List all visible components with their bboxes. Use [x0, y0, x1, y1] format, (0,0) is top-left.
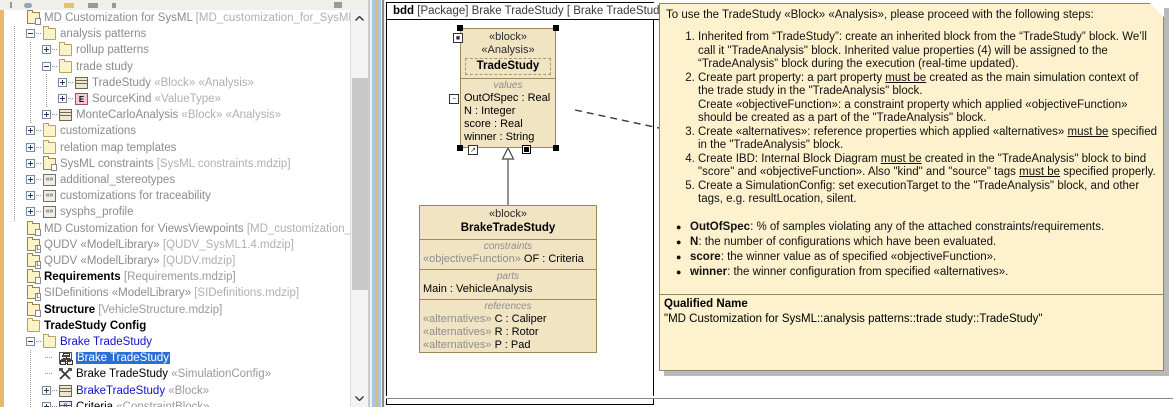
tree-item-brake-tradestudy[interactable]: Brake TradeStudy: [6, 334, 350, 350]
scroll-down-button[interactable]: [351, 390, 368, 407]
tree-item-label: TradeStudy «Block» «Analysis»: [92, 75, 254, 91]
application-window: MD Customization for SysML [MD_customiza…: [0, 0, 1175, 407]
note-steps-list: Inherited from “TradeStudy”: create an i…: [676, 31, 1157, 207]
feature-score: score : Real: [461, 118, 555, 131]
tree-item-montecarloanalysis[interactable]: MonteCarloAnalysis «Block» «Analysis»: [6, 107, 350, 123]
tools-icon: [59, 368, 72, 380]
tree-guide-line: [30, 350, 31, 407]
tree-item-name: relation map templates: [60, 142, 176, 154]
compartment-constraints: constraints «objectiveFunction» OF : Cri…: [420, 240, 596, 270]
tree-item-name: SourceKind: [92, 93, 151, 105]
folder-icon: [59, 61, 72, 73]
folder-icon: [43, 336, 56, 348]
tree-item-label: TradeStudy Config: [44, 318, 146, 334]
tree-item-sysml-constraints[interactable]: SysML constraints [SysML constraints.mdz…: [6, 156, 350, 172]
tree-guide-line: [46, 74, 47, 108]
diagram-kind: bdd: [393, 5, 414, 17]
tree-expander-collapsed[interactable]: [26, 126, 35, 135]
compartment-references: references «alternatives» C : Caliper «a…: [420, 300, 596, 355]
block-collapse-icon[interactable]: −: [449, 94, 459, 104]
tree-item-label: Brake TradeStudy: [76, 350, 170, 366]
diagram-frame-header: bdd [Package] Brake TradeStudy [ Brake T…: [387, 3, 679, 20]
feature-p: «alternatives» P : Pad: [420, 339, 596, 352]
folder-icon: [27, 320, 40, 332]
folder-icon: [43, 28, 56, 40]
block-tradestudy-values-compartment: values OutOfSpec : Real N : Integer scor…: [461, 79, 555, 144]
feature-of-text: OF : Criteria: [524, 253, 584, 265]
tree-item-label: MonteCarloAnalysis «Block» «Analysis»: [76, 107, 281, 123]
folder-icon: [43, 125, 56, 137]
diagram-icon: [59, 352, 72, 364]
tree-item-label: additional_stereotypes: [60, 172, 175, 188]
note-step-2: Create part property: a part property mu…: [698, 72, 1157, 126]
library-icon: [27, 239, 40, 251]
feature-p-text: P : Pad: [495, 339, 531, 351]
tree-item-name: rollup patterns: [76, 44, 149, 56]
tree-item-suffix: «Block»: [165, 385, 209, 397]
qualified-name-label: Qualified Name: [664, 297, 1159, 312]
tree-expander-collapsed[interactable]: [26, 175, 35, 184]
tree-item-qudv-modellibrary[interactable]: QUDV «ModelLibrary» [QUDV_SysML1.4.mdzip…: [6, 237, 350, 253]
chevron-down-icon: [355, 396, 364, 401]
profile-icon: [43, 190, 56, 202]
project-icon: [27, 304, 40, 316]
bullet-desc-winner: : the winner configuration from specifie…: [727, 266, 1008, 278]
tree-item-suffix: [SysML constraints.mdzip]: [154, 158, 291, 170]
tree-item-md-customization-for-viewsviewpoints[interactable]: MD Customization for ViewsViewpoints [MD…: [6, 221, 350, 237]
tree-guide-line: [14, 26, 15, 221]
block-braketradestudy-name: BrakeTradeStudy: [420, 221, 596, 236]
tree-item-requirements[interactable]: Requirements [Requirements.mdzip]: [6, 269, 350, 285]
selection-handle-br[interactable]: [553, 145, 559, 151]
tree-item-suffix: [VehicleStructure.mdzip]: [95, 304, 222, 316]
tree-item-name: QUDV «ModelLibrary»: [44, 239, 160, 251]
block-keyword-block: «block»: [461, 31, 555, 44]
tree-item-analysis-patterns[interactable]: analysis patterns: [6, 26, 350, 42]
project-icon: [43, 158, 56, 170]
tree-item-name: Brake TradeStudy: [76, 352, 170, 364]
feature-main: Main : VehicleAnalysis: [420, 283, 596, 296]
tree-item-label: relation map templates: [60, 140, 176, 156]
block-braketradestudy[interactable]: «block» BrakeTradeStudy constraints «obj…: [419, 205, 597, 353]
tree-connector: [68, 82, 74, 83]
tree-item-md-customization-for-sysml[interactable]: MD Customization for SysML [MD_customiza…: [6, 10, 350, 26]
tree-item-suffix: [SIDefinitions.mdzip]: [191, 287, 299, 299]
compartment-title-references: references: [420, 301, 596, 313]
selection-handle-bl[interactable]: [457, 145, 463, 151]
note-bullet-outofspec: OutOfSpec: % of samples violating any of…: [676, 220, 1157, 235]
tree-item-name: QUDV «ModelLibrary»: [44, 255, 160, 267]
feature-c-text: C : Caliper: [495, 313, 547, 325]
tree-expander-expanded[interactable]: [42, 62, 51, 71]
tree-item-name: trade study: [76, 61, 133, 73]
tree-item-label: Criteria «ConstraintBlock»: [76, 399, 210, 407]
feature-c: «alternatives» C : Caliper: [420, 313, 596, 326]
tree-item-label: trade study: [76, 59, 133, 75]
tree-connector: [52, 66, 58, 67]
note-step-5: Create a SimulationConfig: set execution…: [698, 180, 1157, 207]
folder-icon: [43, 142, 56, 154]
diagram-bottom-border: [386, 398, 1175, 399]
compartment-title-parts: parts: [420, 271, 596, 283]
tree-item-label: SysML constraints [SysML constraints.mdz…: [60, 156, 291, 172]
tree-item-name: TradeStudy: [92, 77, 151, 89]
tree-connector: [68, 98, 74, 99]
toolbar-icon-2[interactable]: [24, 3, 32, 8]
tree-item-suffix: [QUDV.mdzip]: [160, 255, 236, 267]
profile-icon: [43, 206, 56, 218]
block-icon: [59, 385, 72, 397]
note-divider: [660, 294, 1163, 295]
tree-connector: [36, 195, 42, 196]
tree-item-suffix: «ValueType»: [151, 93, 220, 105]
compartment-title-values: values: [461, 80, 555, 92]
tree-item-name: Requirements: [44, 271, 121, 283]
scroll-up-button[interactable]: [351, 10, 368, 27]
tree-item-braketradestudy[interactable]: BrakeTradeStudy «Block»: [6, 383, 350, 399]
tree-connector: [36, 147, 42, 148]
tree-item-name: Criteria: [76, 401, 113, 407]
tree-expander-collapsed[interactable]: [42, 402, 51, 407]
block-icon: [59, 109, 72, 121]
folder-icon: [59, 44, 72, 56]
tree-connector: [36, 211, 42, 212]
project-icon: [27, 223, 40, 235]
tree-expander-collapsed[interactable]: [58, 78, 67, 87]
diagram-title: [Package] Brake TradeStudy [ Brake Trade…: [417, 5, 671, 17]
block-tradestudy-name: TradeStudy: [465, 58, 551, 75]
tree-item-label: SourceKind «ValueType»: [92, 91, 221, 107]
tree-item-label: Structure [VehicleStructure.mdzip]: [44, 302, 222, 318]
tree-item-customizations[interactable]: customizations: [6, 123, 350, 139]
tree-expander-expanded[interactable]: [26, 29, 35, 38]
tree-item-sidefinitions-modellibrary[interactable]: SIDefinitions «ModelLibrary» [SIDefiniti…: [6, 285, 350, 301]
tree-expander-collapsed[interactable]: [26, 159, 35, 168]
constraint-block-icon: [59, 401, 72, 407]
note-intro: To use the TradeStudy «Block» «Analysis»…: [666, 9, 1157, 23]
tree-item-suffix: [MD_customization_for_SysML.mdzip]: [192, 12, 350, 24]
feature-r: «alternatives» R : Rotor: [420, 326, 596, 339]
tree-item-customizations-for-traceability[interactable]: customizations for traceability: [6, 188, 350, 204]
tree-item-suffix: [Requirements.mdzip]: [121, 271, 236, 283]
tree-item-name: SIDefinitions «ModelLibrary»: [44, 287, 191, 299]
block-icon: [75, 77, 88, 89]
tree-item-label: SIDefinitions «ModelLibrary» [SIDefiniti…: [44, 285, 299, 301]
note-bullet-score: score: the winner value as of specified …: [676, 250, 1157, 265]
tree-connector: [36, 163, 42, 164]
emphasis-must-be-2: must be: [1068, 126, 1109, 138]
tree-connector: [36, 341, 42, 342]
tree-guide-line: [30, 42, 31, 124]
tree-connector: [52, 114, 58, 115]
tree-connector: [52, 49, 58, 50]
tree-item-name: sysphs_profile: [60, 206, 134, 218]
project-icon: [27, 12, 40, 24]
scroll-thumb[interactable]: [352, 78, 368, 290]
stereotype-alternatives-p: «alternatives»: [423, 339, 492, 351]
library-icon: [27, 287, 40, 299]
tree-vertical-scrollbar[interactable]: [350, 10, 368, 407]
feature-r-text: R : Rotor: [495, 326, 539, 338]
tree-item-name: MD Customization for ViewsViewpoints: [44, 223, 244, 235]
toolbar-icon-4[interactable]: [88, 3, 98, 8]
tree-item-name: TradeStudy Config: [44, 320, 146, 332]
stereotype-objectivefunction: «objectiveFunction»: [423, 253, 521, 265]
qualified-name-value: "MD Customization for SysML::analysis pa…: [664, 312, 1159, 327]
profile-icon: [43, 174, 56, 186]
chevron-up-icon: [355, 16, 364, 21]
feature-n: N : Integer: [461, 105, 555, 118]
tree-expander-collapsed[interactable]: [42, 386, 51, 395]
tree-item-label: Brake TradeStudy: [60, 334, 152, 350]
tree-item-label: Brake TradeStudy «SimulationConfig»: [76, 366, 271, 382]
tree-item-tradestudy-config[interactable]: TradeStudy Config: [6, 318, 350, 334]
block-tradestudy-header: «block» «Analysis» TradeStudy: [461, 29, 555, 79]
feature-outofspec: OutOfSpec : Real: [461, 92, 555, 105]
tree-item-name: MonteCarloAnalysis: [76, 109, 178, 121]
tree-item-brake-tradestudy[interactable]: Brake TradeStudy: [6, 350, 350, 366]
tree-connector: [36, 130, 42, 131]
tree-item-name: additional_stereotypes: [60, 174, 175, 186]
tree-item-brake-tradestudy[interactable]: Brake TradeStudy «SimulationConfig»: [6, 366, 350, 382]
tree-item-label: QUDV «ModelLibrary» [QUDV_SysML1.4.mdzip…: [44, 237, 294, 253]
tree-item-additional-stereotypes[interactable]: additional_stereotypes: [6, 172, 350, 188]
tree-connector: [36, 179, 42, 180]
note-step-1: Inherited from “TradeStudy”: create an i…: [698, 31, 1157, 72]
note-bullet-winner: winner: the winner configuration from sp…: [676, 265, 1157, 280]
tree-item-name: SysML constraints: [60, 158, 154, 170]
bullet-term-winner: winner: [690, 266, 727, 278]
selection-handle-bottom-mid-inner: [524, 147, 529, 152]
toolbar-icon-5[interactable]: [112, 3, 116, 8]
tree-item-label: customizations for traceability: [60, 188, 211, 204]
project-icon: [27, 271, 40, 283]
tree-expander-collapsed[interactable]: [42, 45, 51, 54]
tree-expander-collapsed[interactable]: [42, 110, 51, 119]
tree-item-name: BrakeTradeStudy: [76, 385, 165, 397]
tree-expander-collapsed[interactable]: [26, 191, 35, 200]
note-step-3: Create «alternatives»: reference propert…: [698, 126, 1157, 153]
bullet-desc-outofspec: : % of samples violating any of the atta…: [750, 221, 1104, 233]
tree-item-tradestudy[interactable]: TradeStudy «Block» «Analysis»: [6, 75, 350, 91]
tree-connector: [45, 373, 52, 374]
stereotype-alternatives-c: «alternatives»: [423, 313, 492, 325]
tree-expander-collapsed[interactable]: [58, 94, 67, 103]
bullet-desc-score: : the winner value as of specified «obje…: [721, 251, 997, 263]
tree-item-sourcekind[interactable]: SourceKind «ValueType»: [6, 91, 350, 107]
tree-expander-expanded[interactable]: [26, 337, 35, 346]
note-bullet-n: N: the number of configurations which ha…: [676, 235, 1157, 250]
tree-item-name: Brake TradeStudy: [76, 368, 168, 380]
browser-toolbar[interactable]: [0, 0, 370, 10]
tree-item-name: Structure: [44, 304, 95, 316]
tree-expander-collapsed[interactable]: [26, 207, 35, 216]
feature-of: «objectiveFunction» OF : Criteria: [420, 253, 596, 266]
tree-item-label: analysis patterns: [60, 26, 146, 42]
tree-item-suffix: «ConstraintBlock»: [113, 401, 210, 407]
block-keyword-block-2: «block»: [420, 208, 596, 221]
tree-item-rollup-patterns[interactable]: rollup patterns: [6, 42, 350, 58]
compartment-parts: parts Main : VehicleAnalysis: [420, 270, 596, 300]
model-browser-panel: MD Customization for SysML [MD_customiza…: [0, 0, 370, 407]
note-step-4: Create IBD: Internal Block Diagram must …: [698, 153, 1157, 180]
enum-icon: [75, 93, 88, 105]
tree-item-name: customizations: [60, 125, 136, 137]
emphasis-must-be-4: must be: [1019, 166, 1060, 178]
tree-item-suffix: «Block» «Analysis»: [178, 109, 281, 121]
tree-item-label: sysphs_profile: [60, 204, 134, 220]
compartment-title-constraints: constraints: [420, 241, 596, 253]
tree-expander-collapsed[interactable]: [26, 143, 35, 152]
note-bullets: OutOfSpec: % of samples violating any of…: [676, 220, 1157, 280]
toolbar-icon-6[interactable]: [334, 2, 342, 8]
selection-handle-tr[interactable]: [553, 25, 559, 31]
tree-item-label: QUDV «ModelLibrary» [QUDV.mdzip]: [44, 253, 235, 269]
block-keyword-analysis: «Analysis»: [461, 44, 555, 57]
block-braketradestudy-header: «block» BrakeTradeStudy: [420, 206, 596, 240]
tree-item-label: BrakeTradeStudy «Block»: [76, 383, 209, 399]
tree-item-structure[interactable]: Structure [VehicleStructure.mdzip]: [6, 302, 350, 318]
qualified-name-section: Qualified Name "MD Customization for Sys…: [664, 297, 1159, 327]
tree-item-name: customizations for traceability: [60, 190, 211, 202]
splitter-stripe-grey: [382, 0, 384, 407]
tree-item-name: analysis patterns: [60, 28, 146, 40]
block-tradestudy[interactable]: «block» «Analysis» TradeStudy values Out…: [460, 28, 556, 148]
tree-item-suffix: [MD_customization_for_Views: [244, 223, 350, 235]
tree-connector: [36, 33, 42, 34]
tree-item-relation-map-templates[interactable]: relation map templates: [6, 140, 350, 156]
emphasis-must-be-1: must be: [885, 72, 926, 84]
selection-handle-tl[interactable]: [457, 25, 463, 31]
emphasis-must-be-3: must be: [881, 153, 922, 165]
tree-item-qudv-modellibrary[interactable]: QUDV «ModelLibrary» [QUDV.mdzip]: [6, 253, 350, 269]
feature-winner: winner : String: [461, 131, 555, 144]
tree-item-suffix: «SimulationConfig»: [168, 368, 271, 380]
diagram-canvas[interactable]: bdd [Package] Brake TradeStudy [ Brake T…: [386, 0, 1175, 407]
tree-item-trade-study[interactable]: trade study: [6, 59, 350, 75]
tree-item-label: MD Customization for SysML [MD_customiza…: [44, 10, 350, 26]
stereotype-alternatives-r: «alternatives»: [423, 326, 492, 338]
tree-item-criteria[interactable]: Criteria «ConstraintBlock»: [6, 399, 350, 407]
tree-item-label: MD Customization for ViewsViewpoints [MD…: [44, 221, 350, 237]
tree-connector: [52, 390, 58, 391]
bullet-term-outofspec: OutOfSpec: [690, 221, 750, 233]
model-tree[interactable]: MD Customization for SysML [MD_customiza…: [6, 10, 350, 407]
block-tagged-values-icon[interactable]: ■: [453, 33, 463, 43]
splitter-stripe-blue-right: [378, 0, 381, 407]
tree-item-name: Brake TradeStudy: [60, 336, 152, 348]
note-content: To use the TradeStudy «Block» «Analysis»…: [660, 4, 1163, 370]
library-icon: [27, 255, 40, 267]
bullet-desc-n: : the number of configurations which hav…: [698, 236, 996, 248]
note-steps: Inherited from “TradeStudy”: create an i…: [676, 31, 1157, 207]
tree-item-label: customizations: [60, 123, 136, 139]
block-open-nested-icon[interactable]: ↗: [468, 145, 478, 155]
toolbar-icon-3[interactable]: [64, 3, 74, 8]
bullet-term-score: score: [690, 251, 721, 263]
tree-item-label: rollup patterns: [76, 42, 149, 58]
documentation-note[interactable]: To use the TradeStudy «Block» «Analysis»…: [659, 3, 1164, 371]
tree-item-name: MD Customization for SysML: [44, 12, 192, 24]
tree-connector: [45, 357, 52, 358]
tree-item-suffix: «Block» «Analysis»: [151, 77, 254, 89]
tree-item-label: Requirements [Requirements.mdzip]: [44, 269, 236, 285]
tree-item-sysphs-profile[interactable]: sysphs_profile: [6, 204, 350, 220]
toolbar-icon-1[interactable]: [10, 2, 12, 8]
tree-item-suffix: [QUDV_SysML1.4.mdzip]: [160, 239, 294, 251]
